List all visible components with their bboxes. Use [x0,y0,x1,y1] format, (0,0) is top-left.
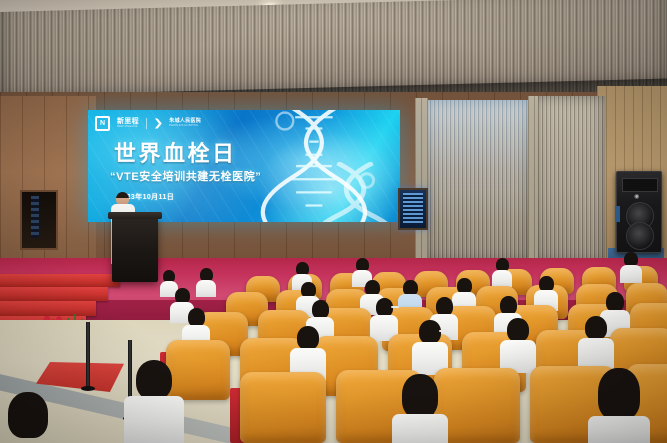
logo-divider [146,118,147,129]
stage-curtain-right-b [533,96,605,264]
wall-display-content [403,193,423,225]
wall-recess-strip [31,196,39,238]
speaker-horn [622,178,658,192]
logo-secondary-sub: PEOPLE'S HOSPITAL [169,125,201,128]
screen-main-title: 世界血栓日 [114,143,237,165]
speaker-side-light [615,206,620,222]
screen-subtitle: “VTE安全培训共建无栓医院” [110,172,261,183]
lectern-top [108,212,162,219]
attendee-body [588,416,650,443]
logo-primary-text: 新里程 NEW MILEAGE [117,118,139,129]
attendee-head [402,374,438,418]
logo-primary-sub: NEW MILEAGE [117,126,139,129]
attendee [124,360,184,443]
speaker-cone-lower [626,222,654,250]
curtain-pillar-a [415,98,428,266]
attendee-body [124,396,184,443]
attendee [620,252,642,282]
speaker-badge: ◉ [634,193,639,200]
attendee [412,320,448,374]
attendee [500,318,536,372]
seat [240,372,326,443]
screen-logo-row: N 新里程 NEW MILEAGE ❯ 朱城人民医院 PEOPLE'S HOSP… [95,116,201,131]
dna-helix-secondary-icon [316,162,394,222]
face-mask-strap [391,306,399,308]
auditorium-photo: N 新里程 NEW MILEAGE ❯ 朱城人民医院 PEOPLE'S HOSP… [0,0,667,443]
attendee [370,298,398,340]
logo-secondary-text: 朱城人民医院 PEOPLE'S HOSPITAL [169,119,201,128]
face-mask-strap [439,330,448,332]
attendee-body [392,414,448,443]
curtain-pillar-b [528,96,538,266]
step [0,287,108,301]
attendee [578,316,614,370]
attendee-head [606,292,624,312]
attendee-head [136,360,172,400]
step [0,274,120,287]
attendee [0,392,58,443]
hospital-group-logo-icon: N [95,116,110,131]
attendee-head [507,318,529,342]
curtain-blue-light [425,100,530,220]
attendee-head [585,316,607,340]
attendee [392,374,448,443]
attendee-head [598,368,640,420]
attendee [196,268,216,296]
attendee-head [8,392,48,438]
lectern-podium [112,216,158,282]
attendee [492,258,512,286]
attendee-head [419,320,441,344]
crowd-barrier-base [81,386,95,391]
wall-recess [20,190,58,250]
attendee-body [492,270,512,287]
attendee [588,368,650,443]
wall-display-panel [398,188,428,230]
swoosh-logo-icon: ❯ [153,119,163,129]
attendee-head [297,326,319,350]
attendee-body [620,265,642,283]
pa-loudspeaker: ◉ [616,171,662,253]
crowd-barrier-post [86,322,90,388]
attendee-body [196,280,216,297]
